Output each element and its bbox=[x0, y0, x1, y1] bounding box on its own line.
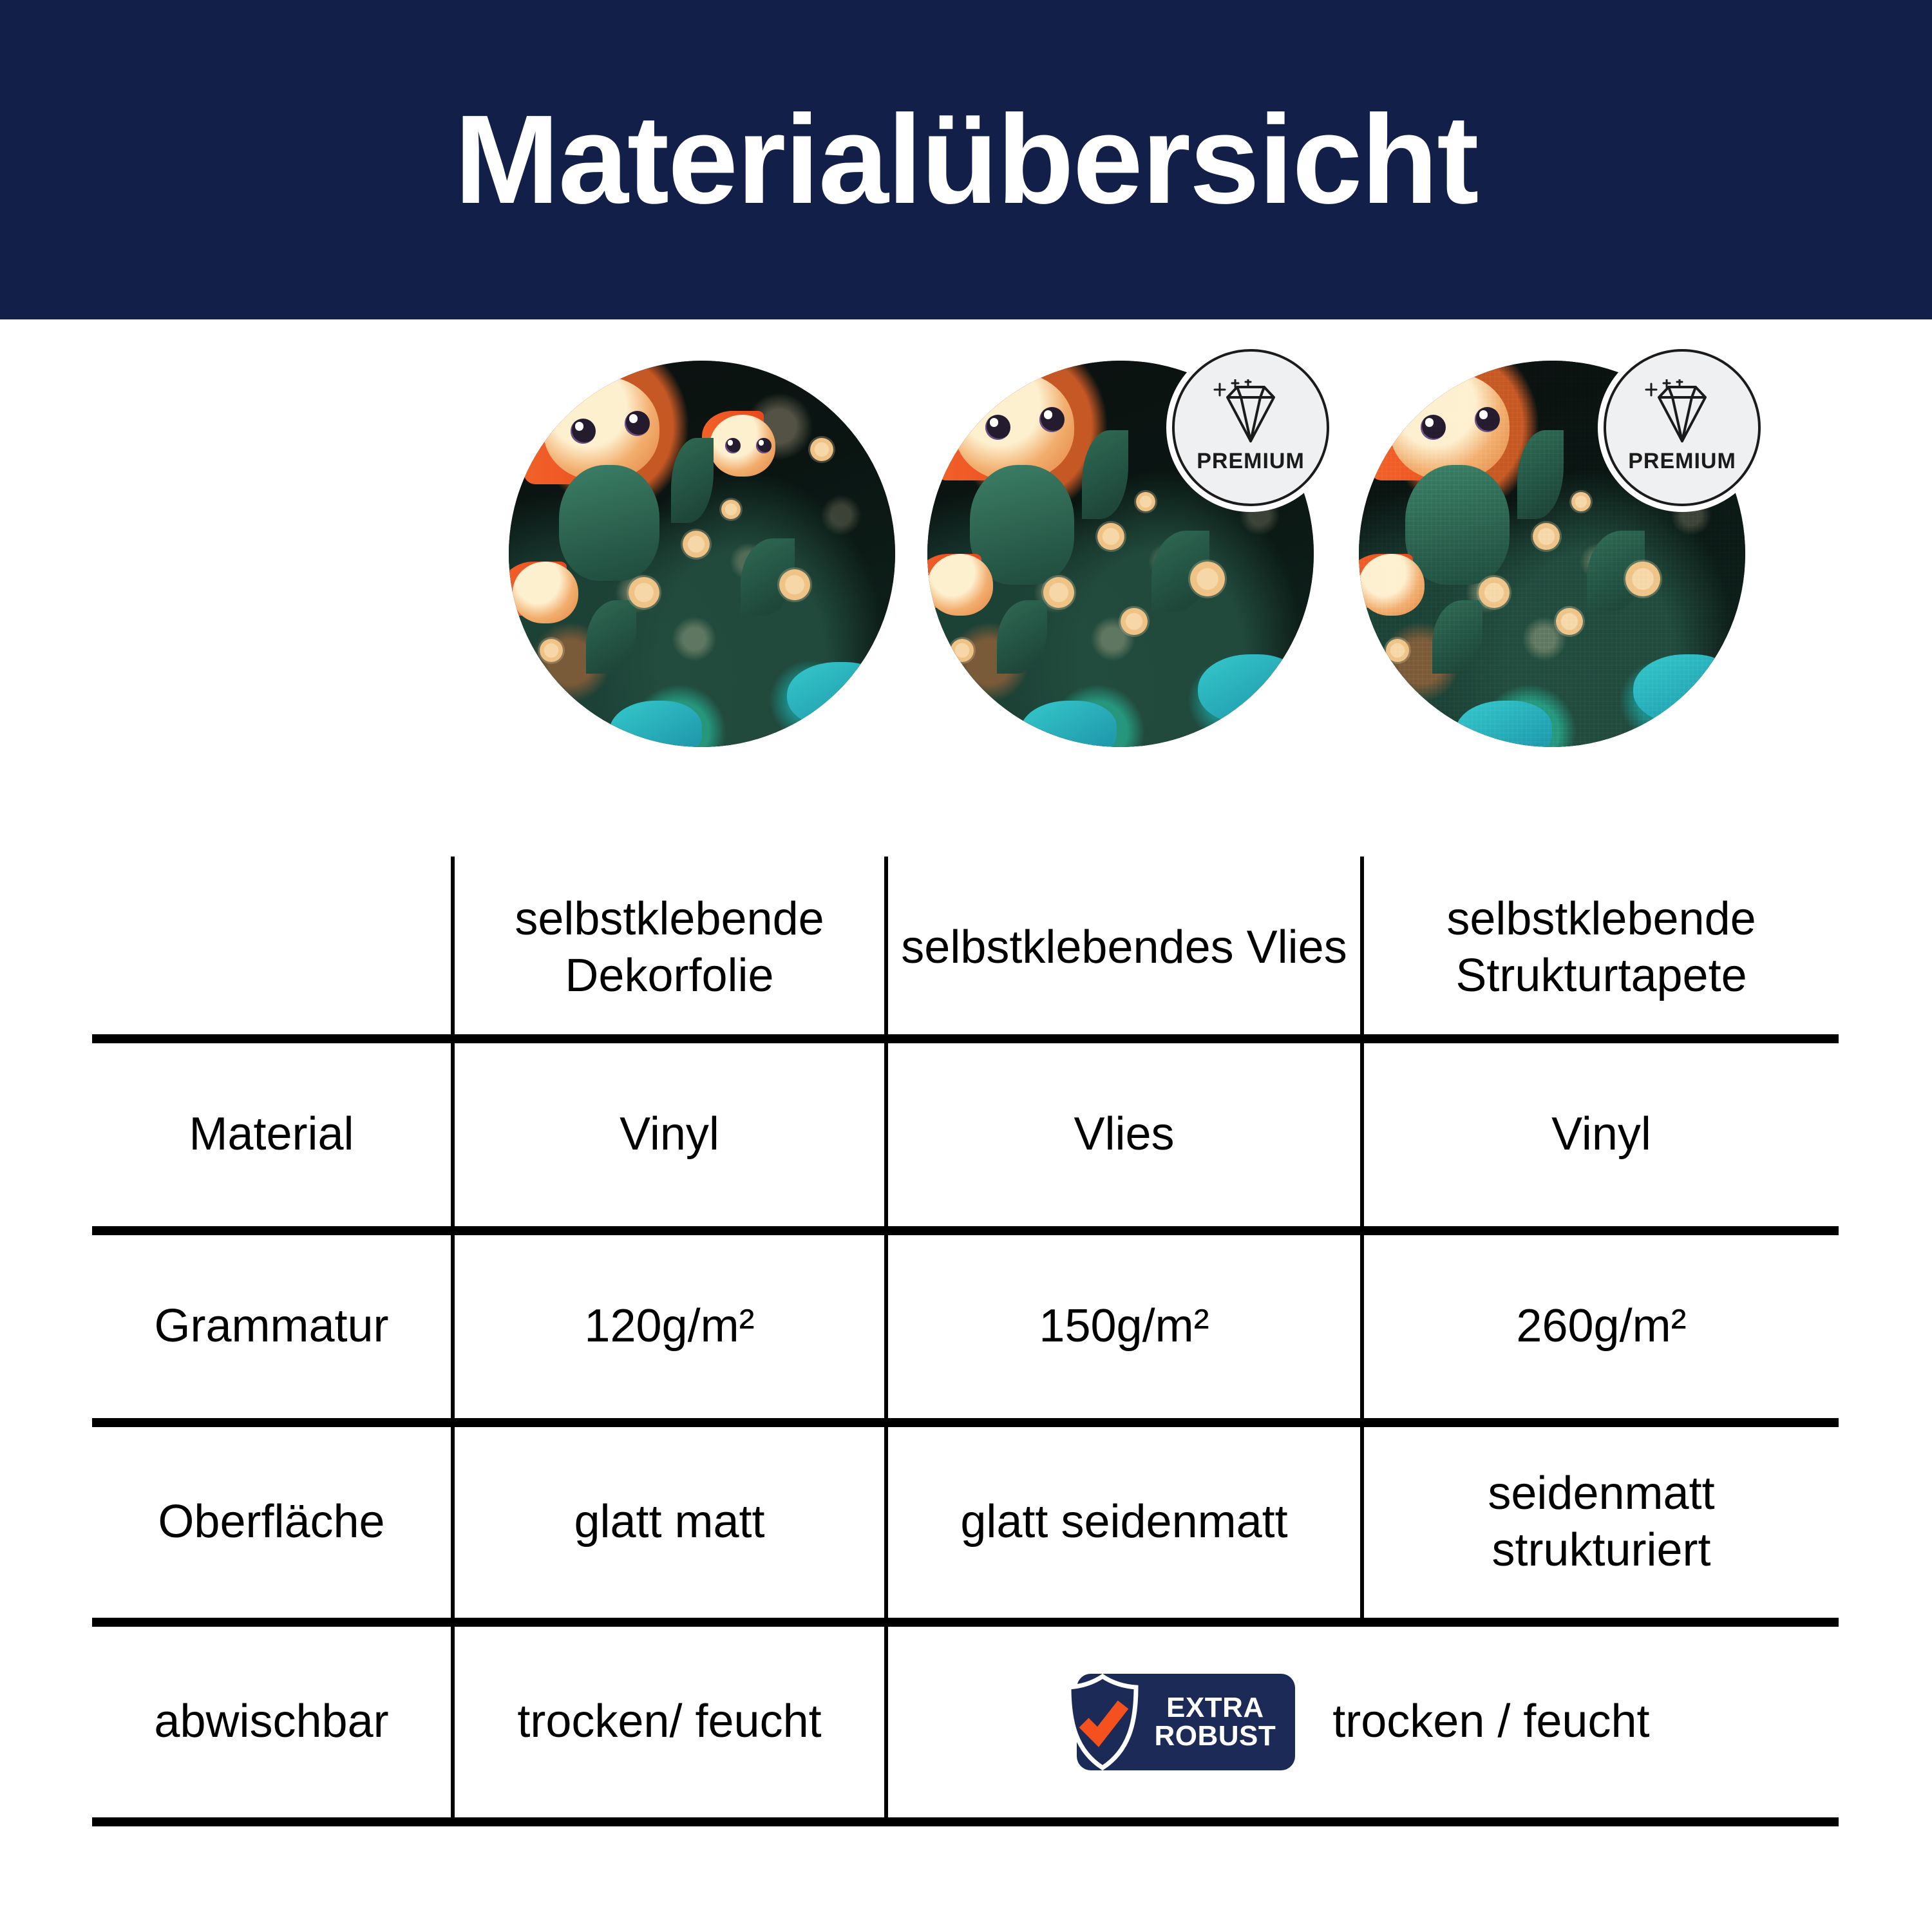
row-label-oberflaeche: Oberfläche bbox=[92, 1423, 453, 1622]
table-row-grammatur: Grammatur 120g/m² 150g/m² 260g/m² bbox=[92, 1231, 1839, 1423]
diamond-icon bbox=[1212, 379, 1289, 446]
diamond-icon bbox=[1643, 379, 1721, 446]
cell-oberflaeche-strukturtapete: seidenmatt strukturiert bbox=[1362, 1423, 1839, 1622]
row-label-material: Material bbox=[92, 1039, 453, 1231]
premium-badge: PREMIUM bbox=[1604, 349, 1761, 506]
row-label-grammatur: Grammatur bbox=[92, 1231, 453, 1423]
product-preview-3[interactable]: PREMIUM bbox=[1359, 361, 1745, 747]
extra-robust-line2: ROBUST bbox=[1154, 1722, 1276, 1750]
product-preview-2[interactable]: PREMIUM bbox=[927, 361, 1314, 747]
cell-material-strukturtapete: Vinyl bbox=[1362, 1039, 1839, 1231]
cell-material-vlies: Vlies bbox=[886, 1039, 1362, 1231]
product-preview-1[interactable] bbox=[509, 361, 895, 747]
table-row-oberflaeche: Oberfläche glatt matt glatt seidenmatt s… bbox=[92, 1423, 1839, 1622]
header-cell-dekorfolie: selbstklebende Dekorfolie bbox=[453, 857, 886, 1039]
table-row-abwischbar: abwischbar trocken/ feucht bbox=[92, 1622, 1839, 1822]
header-cell-vlies: selbstklebendes Vlies bbox=[886, 857, 1362, 1039]
cell-grammatur-vlies: 150g/m² bbox=[886, 1231, 1362, 1423]
cell-oberflaeche-vlies: glatt seidenmatt bbox=[886, 1423, 1362, 1622]
table-row-material: Material Vinyl Vlies Vinyl bbox=[92, 1039, 1839, 1231]
extra-robust-badge: EXTRA ROBUST bbox=[1077, 1674, 1295, 1770]
header-cell-strukturtapete: selbstklebende Strukturtapete bbox=[1362, 857, 1839, 1039]
row-label-abwischbar: abwischbar bbox=[92, 1622, 453, 1822]
cell-oberflaeche-dekorfolie: glatt matt bbox=[453, 1423, 886, 1622]
premium-badge-label: PREMIUM bbox=[1628, 449, 1736, 474]
product-preview-strip: PREMIUM bbox=[0, 348, 1932, 773]
cell-grammatur-strukturtapete: 260g/m² bbox=[1362, 1231, 1839, 1423]
artwork-axolotl-garden bbox=[509, 361, 895, 747]
header-banner: Materialübersicht bbox=[0, 0, 1932, 319]
product-image-1[interactable] bbox=[509, 361, 895, 747]
cell-abwischbar-dekorfolie: trocken/ feucht bbox=[453, 1622, 886, 1822]
cell-abwischbar-value-merged: trocken / feucht bbox=[1332, 1694, 1649, 1750]
cell-material-dekorfolie: Vinyl bbox=[453, 1039, 886, 1231]
cell-grammatur-dekorfolie: 120g/m² bbox=[453, 1231, 886, 1423]
premium-badge: PREMIUM bbox=[1172, 349, 1329, 506]
material-comparison-table: selbstklebende Dekorfolie selbstklebende… bbox=[92, 857, 1839, 1826]
table-header-row: selbstklebende Dekorfolie selbstklebende… bbox=[92, 857, 1839, 1039]
shield-check-icon bbox=[1063, 1674, 1142, 1770]
premium-badge-label: PREMIUM bbox=[1197, 449, 1305, 474]
spec-table: selbstklebende Dekorfolie selbstklebende… bbox=[92, 857, 1839, 1826]
cell-abwischbar-merged: EXTRA ROBUST trocken / feucht bbox=[886, 1622, 1839, 1822]
header-cell-blank bbox=[92, 857, 453, 1039]
extra-robust-line1: EXTRA bbox=[1154, 1694, 1276, 1722]
page-title: Materialübersicht bbox=[455, 97, 1478, 223]
